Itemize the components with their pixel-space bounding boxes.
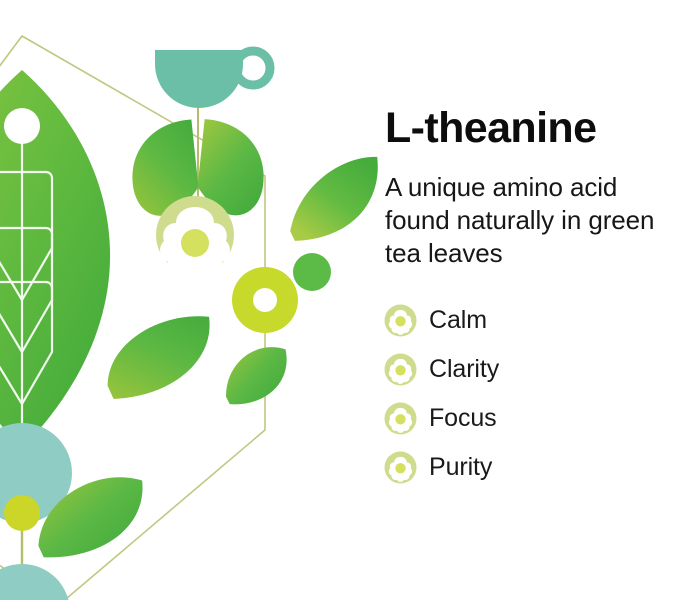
leaf-middle: [100, 314, 219, 400]
flower-bullet-icon: [384, 353, 417, 386]
list-item: Purity: [384, 443, 499, 492]
list-item: Focus: [384, 394, 499, 443]
list-item: Clarity: [384, 345, 499, 394]
leaf-right-upper: [285, 156, 380, 241]
flower-bullet-icon: [384, 451, 417, 484]
teal-circle-lower: [0, 564, 70, 600]
benefit-label: Focus: [429, 406, 497, 431]
teacup-icon: [155, 50, 270, 108]
list-item: Calm: [384, 296, 499, 345]
green-dot: [293, 253, 331, 291]
lime-ring: [232, 267, 298, 333]
leaf-top-circle: [4, 108, 40, 144]
benefit-label: Calm: [429, 308, 487, 333]
flower-bullet-icon: [384, 402, 417, 435]
page-title: L-theanine: [385, 106, 596, 151]
leaf-right-lower: [218, 344, 295, 408]
flower-medallion-icon: [156, 196, 234, 281]
large-leaf: [0, 70, 110, 470]
benefit-label: Purity: [429, 455, 492, 480]
info-panel: L-theanine A unique amino acid found nat…: [384, 0, 700, 600]
flower-bullet-icon: [384, 304, 417, 337]
l-theanine-info-card: L-theanine A unique amino acid found nat…: [0, 0, 700, 600]
benefit-label: Clarity: [429, 357, 499, 382]
benefits-list: Calm Clarity: [384, 296, 499, 492]
green-tea-botanical-illustration: [0, 0, 380, 600]
olive-dot: [4, 495, 40, 531]
subtitle-text: A unique amino acid found naturally in g…: [385, 171, 685, 270]
